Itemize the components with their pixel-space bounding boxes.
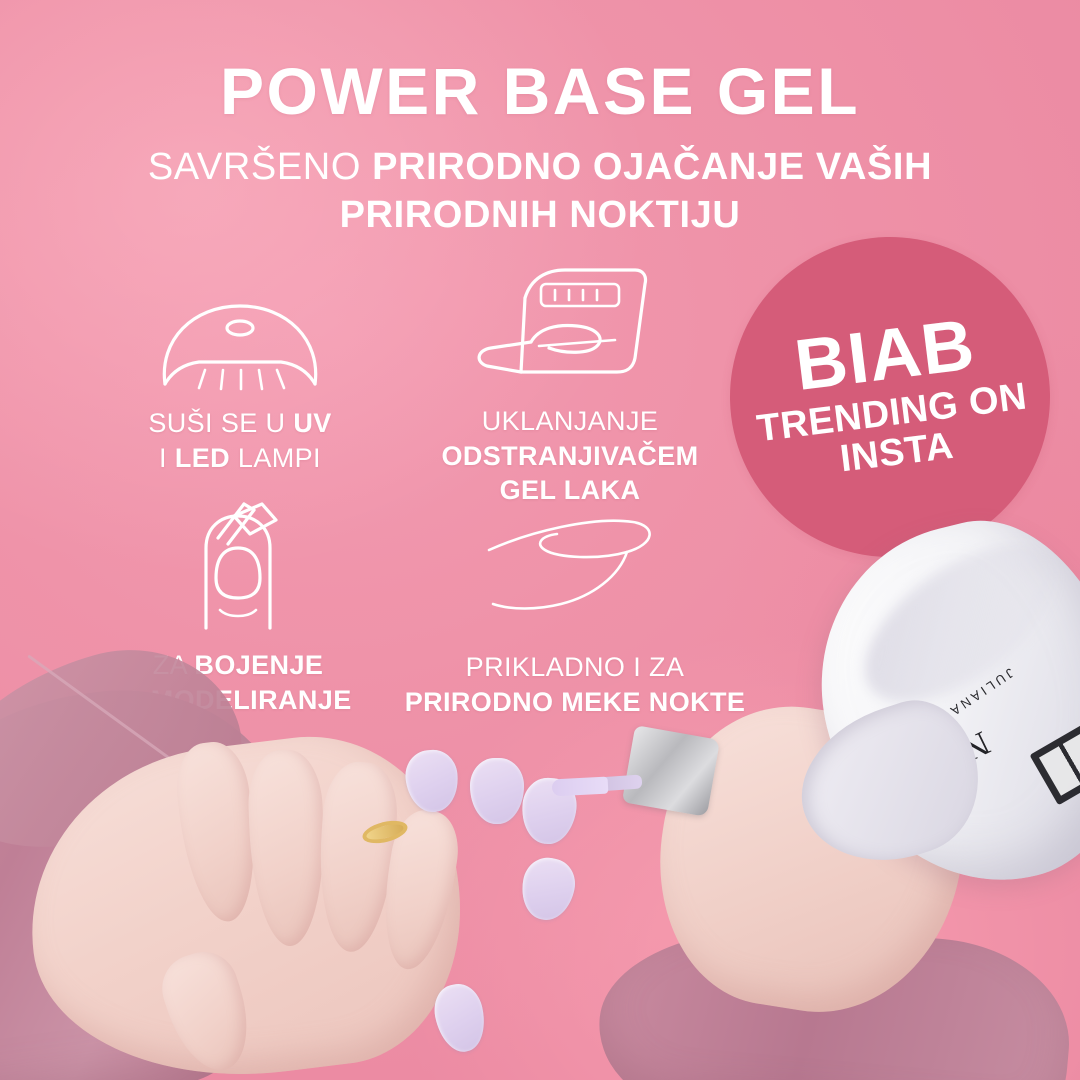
feature-uv-lamp: SUŠI SE U UV I LED LAMPI [60, 292, 420, 475]
foil-removal-icon [465, 262, 675, 392]
nail-middle [470, 758, 524, 824]
cap2-bold-c: GEL LAKA [400, 473, 740, 508]
uv-lamp-product: JULIANA NAILS N [816, 495, 1080, 915]
uv-lamp-icon [145, 292, 335, 392]
feature-foil-removal-caption: UKLANJANJE ODSTRANJIVAČEM GEL LAKA [400, 404, 740, 508]
subtitle-line-2: PRIRODNIH NOKTIJU [0, 192, 1080, 238]
feature-uv-lamp-caption: SUŠI SE U UV I LED LAMPI [60, 406, 420, 475]
subtitle-line-1: SAVRŠENO PRIRODNO OJAČANJE VAŠIH [0, 144, 1080, 190]
cap1-bold-a: UV [293, 408, 331, 438]
page-title: POWER BASE GEL [0, 58, 1080, 124]
cap2-light-a: UKLANJANJE [400, 404, 740, 439]
cap1-light-b: I [159, 443, 175, 473]
lamp-logo-icon [1029, 710, 1080, 805]
cap2-bold-b: ODSTRANJIVAČEM [400, 439, 740, 474]
cap1-light-c: LAMPI [230, 443, 321, 473]
cap1-light-a: SUŠI SE U [148, 408, 293, 438]
polish-bottle-cap [622, 725, 720, 817]
cap1-bold-b: LED [175, 443, 230, 473]
polish-brush-tip [552, 777, 609, 797]
subtitle-light-part: SAVRŠENO [148, 146, 372, 188]
subtitle-bold-part: PRIRODNO OJAČANJE VAŠIH [372, 146, 932, 188]
poster-canvas: POWER BASE GEL SAVRŠENO PRIRODNO OJAČANJ… [0, 0, 1080, 1080]
feature-foil-removal: UKLANJANJE ODSTRANJIVAČEM GEL LAKA [400, 262, 740, 508]
nail-pinky [517, 854, 580, 925]
